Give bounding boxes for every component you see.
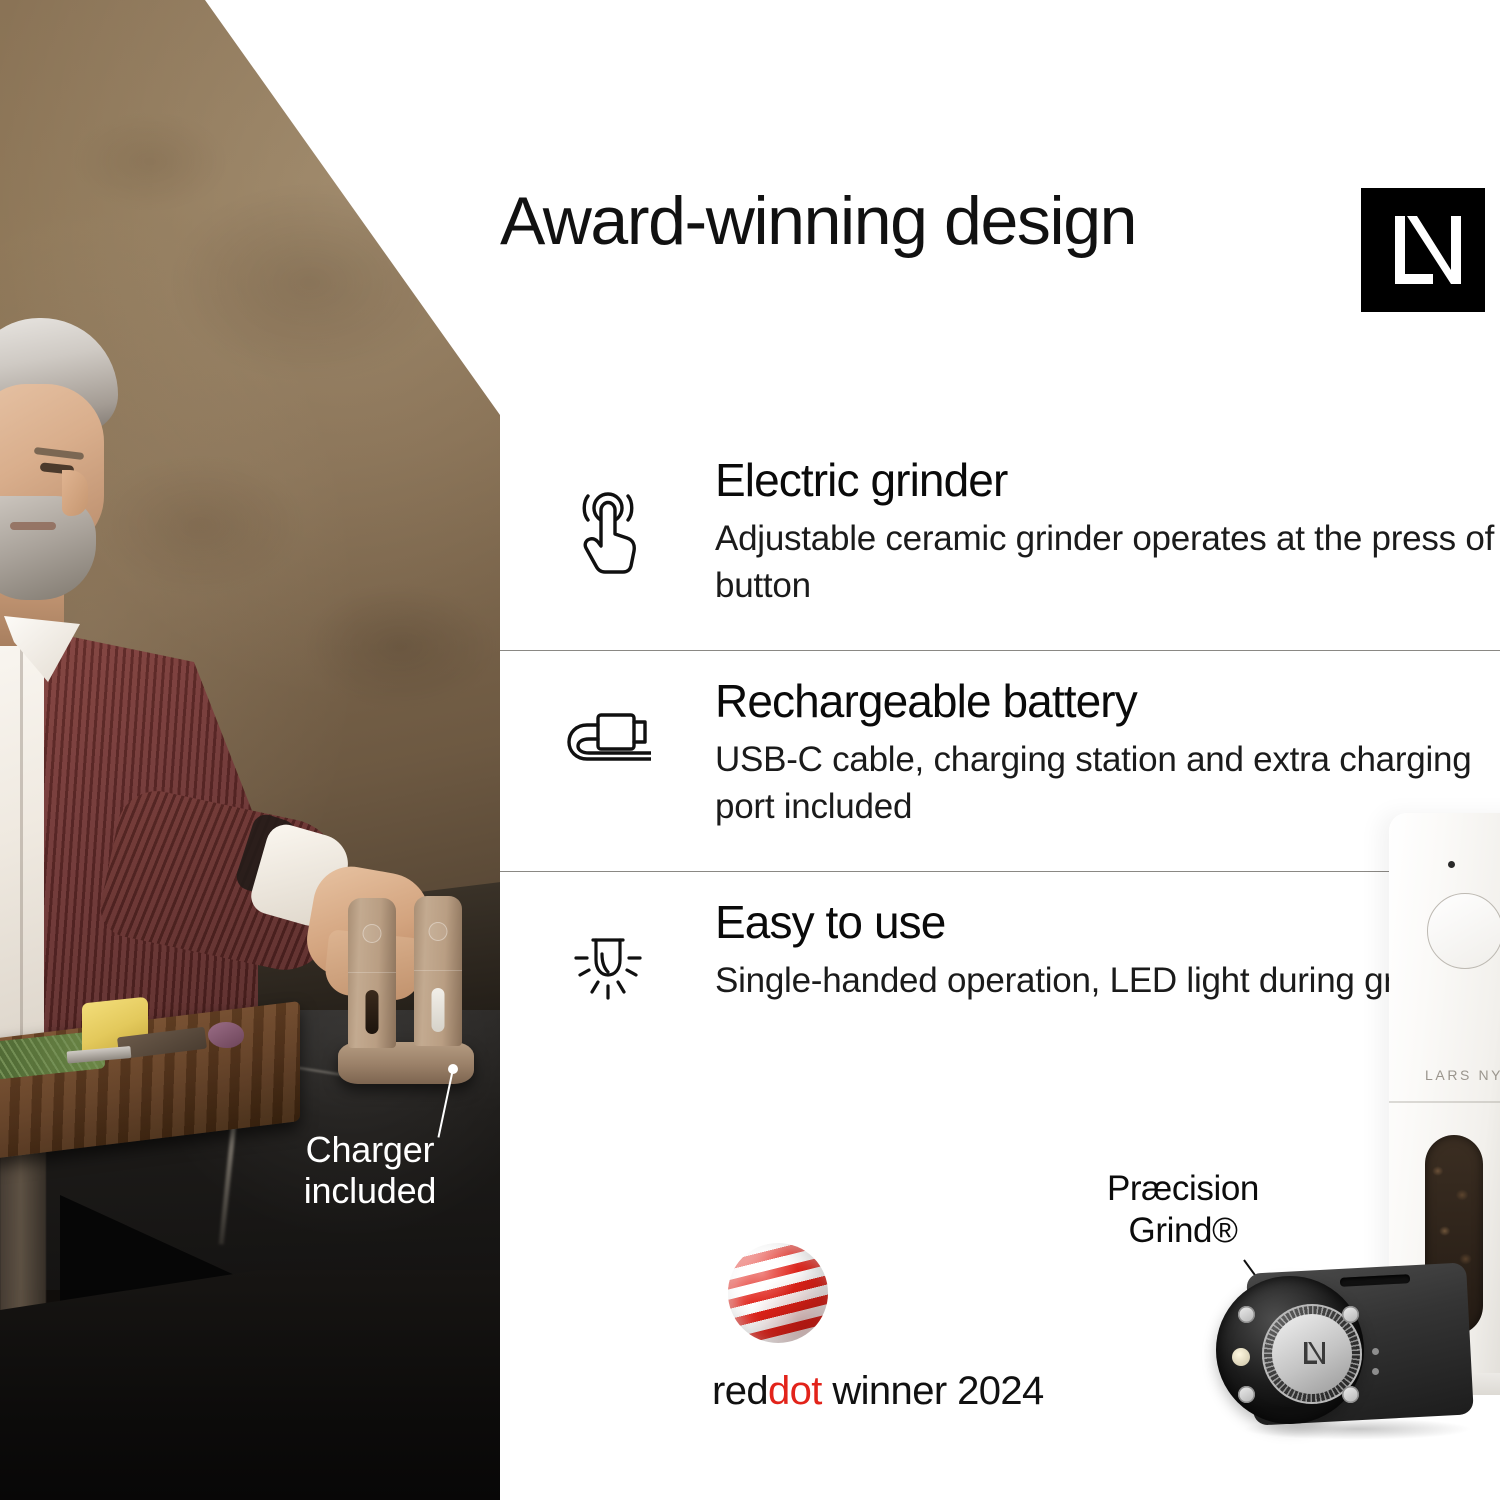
reddot-sphere-icon bbox=[728, 1243, 828, 1343]
product-base-face bbox=[1216, 1276, 1364, 1424]
photo-counter-front bbox=[0, 1270, 500, 1500]
photo-grinder-pepper bbox=[348, 898, 396, 1048]
product-feature-banner: Charger included Award-winning design El… bbox=[0, 0, 1500, 1500]
feature-row-rechargeable-battery: Rechargeable battery USB-C cable, chargi… bbox=[500, 650, 1500, 871]
reddot-text-rest: winner 2024 bbox=[822, 1369, 1044, 1413]
photo-grinder-salt bbox=[414, 896, 462, 1046]
product-led-indicator bbox=[1448, 861, 1455, 868]
feature-title: Easy to use bbox=[715, 896, 1487, 948]
photo-man bbox=[0, 318, 258, 1078]
photo-man-nose bbox=[62, 470, 88, 516]
photo-grinder-button bbox=[429, 922, 448, 941]
reddot-award-text: reddot winner 2024 bbox=[712, 1369, 1072, 1414]
feature-title: Rechargeable battery bbox=[715, 675, 1500, 727]
feature-description: Single-handed operation, LED light durin… bbox=[715, 958, 1487, 1005]
lars-nysoem-logo-icon bbox=[1361, 188, 1485, 312]
reddot-text-dot: dot bbox=[768, 1369, 822, 1413]
feature-text-block: Easy to use Single-handed operation, LED… bbox=[715, 872, 1487, 1005]
precision-grind-line-1: Præcision bbox=[1083, 1168, 1283, 1210]
photo-charging-base bbox=[338, 1042, 474, 1084]
precision-grind-callout: Præcision Grind® bbox=[1083, 1168, 1283, 1252]
photo-grinder-window bbox=[366, 990, 379, 1034]
photo-grinder-window bbox=[432, 988, 445, 1032]
lifestyle-photo: Charger included bbox=[0, 0, 500, 1500]
photo-grinder-seam bbox=[348, 972, 396, 973]
product-body-seam bbox=[1389, 1101, 1500, 1103]
precision-grind-line-2: Grind® bbox=[1083, 1210, 1283, 1252]
dial-ln-logo-icon bbox=[1295, 1337, 1329, 1371]
base-screw bbox=[1342, 1386, 1359, 1403]
product-wordmark: LARS NYS bbox=[1425, 1067, 1500, 1083]
feature-list: Electric grinder Adjustable ceramic grin… bbox=[500, 430, 1500, 1092]
base-screw bbox=[1238, 1386, 1255, 1403]
charging-contact bbox=[1372, 1368, 1379, 1375]
base-screw bbox=[1238, 1306, 1255, 1323]
charging-contact bbox=[1372, 1348, 1379, 1355]
grind-dial-center bbox=[1272, 1314, 1352, 1394]
feature-text-block: Electric grinder Adjustable ceramic grin… bbox=[715, 430, 1500, 610]
led-light-rays-icon bbox=[500, 872, 715, 1006]
tap-finger-icon bbox=[500, 430, 715, 574]
reddot-award-badge: reddot winner 2024 bbox=[712, 1243, 1072, 1414]
photo-man-mouth bbox=[10, 522, 56, 530]
charger-callout-label: Charger included bbox=[250, 1130, 490, 1211]
product-power-button bbox=[1427, 893, 1500, 969]
feature-text-block: Rechargeable battery USB-C cable, chargi… bbox=[715, 651, 1500, 831]
usb-plug-cable-icon bbox=[500, 651, 715, 775]
base-screw bbox=[1342, 1306, 1359, 1323]
feature-description: USB-C cable, charging station and extra … bbox=[715, 737, 1500, 830]
feature-title: Electric grinder bbox=[715, 454, 1500, 506]
feature-description: Adjustable ceramic grinder operates at t… bbox=[715, 516, 1500, 609]
photo-grinder-seam bbox=[414, 970, 462, 971]
photo-grinder-button bbox=[363, 924, 382, 943]
feature-row-electric-grinder: Electric grinder Adjustable ceramic grin… bbox=[500, 430, 1500, 650]
product-black-grinder-underside bbox=[1190, 1268, 1460, 1468]
base-led bbox=[1232, 1348, 1250, 1366]
photo-shallot bbox=[208, 1022, 244, 1048]
page-title: Award-winning design bbox=[500, 183, 1140, 261]
reddot-text-red: red bbox=[712, 1369, 768, 1413]
feature-row-easy-to-use: Easy to use Single-handed operation, LED… bbox=[500, 871, 1500, 1092]
